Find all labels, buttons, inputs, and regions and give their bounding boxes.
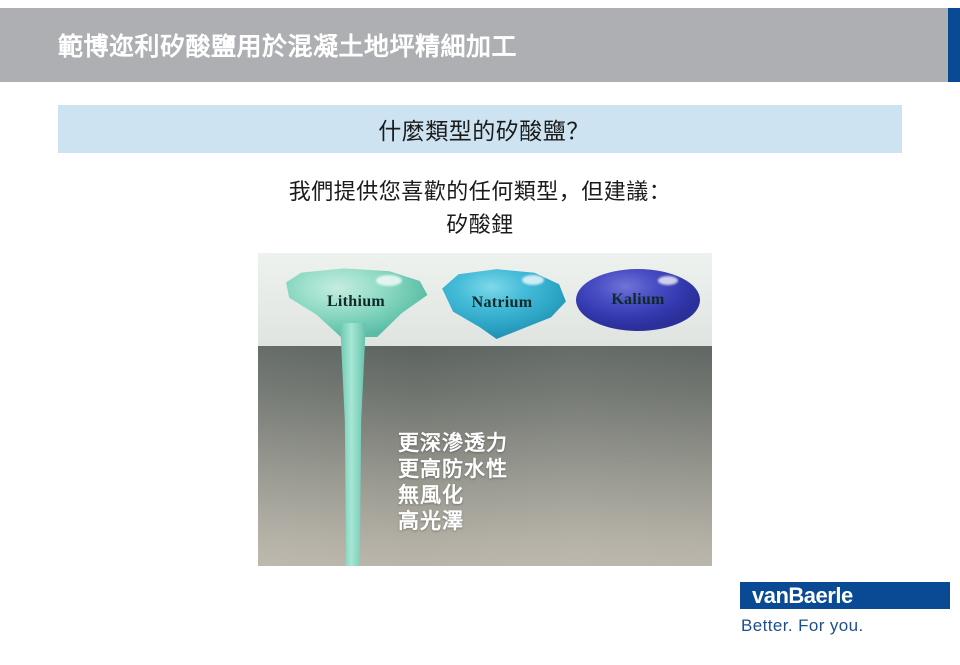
droplet-kalium-highlight [658, 276, 678, 285]
header-bar: 範博迩利矽酸鹽用於混凝土地坪精細加工 [0, 8, 948, 82]
logo-tagline: Better. For you. [740, 616, 950, 636]
droplet-natrium: Natrium [434, 267, 570, 339]
illustration-image: Lithium Natrium Kalium 更深滲透力 更高防水性 無風化 高… [258, 253, 712, 566]
subtitle-band: 什麼類型的矽酸鹽？ [58, 105, 902, 153]
droplet-natrium-highlight [522, 275, 544, 285]
body-line-2: 矽酸鋰 [130, 208, 830, 241]
brand-logo: vanBaerle Better. For you. [740, 582, 950, 636]
body-line-1: 我們提供您喜歡的任何類型，但建議： [130, 175, 830, 208]
benefit-list: 更深滲透力 更高防水性 無風化 高光澤 [398, 431, 508, 535]
body-copy: 我們提供您喜歡的任何類型，但建議： 矽酸鋰 [130, 175, 830, 241]
logo-wordmark: vanBaerle [752, 583, 853, 609]
benefit-item: 更深滲透力 [398, 431, 508, 457]
subtitle-text: 什麼類型的矽酸鹽？ [58, 112, 902, 146]
benefit-item: 高光澤 [398, 509, 508, 535]
droplet-kalium-label: Kalium [611, 291, 664, 309]
droplet-lithium-label: Lithium [327, 293, 385, 311]
page-title: 範博迩利矽酸鹽用於混凝土地坪精細加工 [58, 27, 517, 63]
logo-mark: vanBaerle [740, 582, 950, 609]
header-accent-stripe [948, 8, 960, 82]
droplet-kalium: Kalium [576, 269, 700, 331]
droplet-natrium-label: Natrium [472, 294, 533, 312]
droplet-lithium-highlight [376, 275, 402, 286]
benefit-item: 無風化 [398, 483, 508, 509]
benefit-item: 更高防水性 [398, 457, 508, 483]
